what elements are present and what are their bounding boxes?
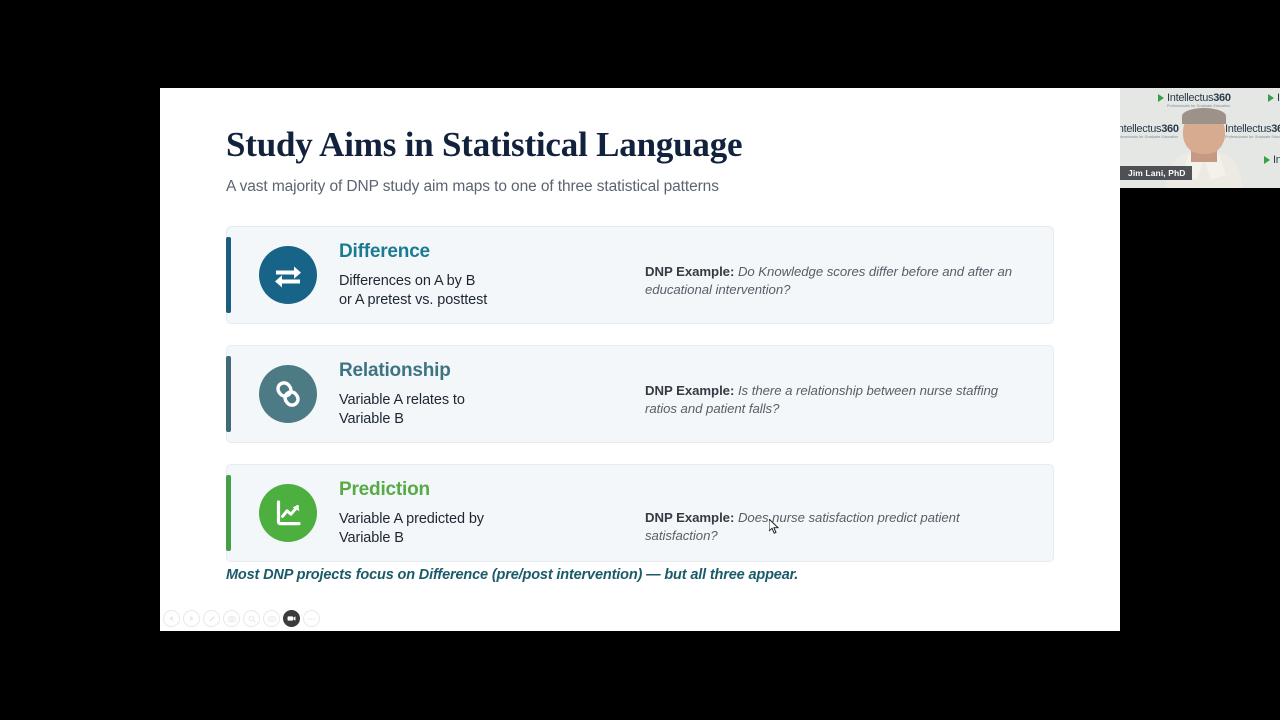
card-example: DNP Example: Is there a relationship bet… xyxy=(631,382,1053,418)
mouse-cursor xyxy=(769,519,780,535)
pattern-card-difference[interactable]: Difference Differences on A by B or A pr… xyxy=(226,226,1054,324)
presenter-display-button[interactable] xyxy=(263,610,280,627)
card-example: DNP Example: Does nurse satisfaction pre… xyxy=(631,509,1053,545)
card-text-block: Relationship Variable A relates to Varia… xyxy=(339,358,631,429)
card-text-block: Prediction Variable A predicted by Varia… xyxy=(339,477,631,548)
play-triangle-icon xyxy=(1158,94,1164,102)
card-example-label: DNP Example: xyxy=(645,264,734,279)
previous-slide-button[interactable] xyxy=(163,610,180,627)
two-way-arrows-icon xyxy=(259,246,317,304)
slide-header: Study Aims in Statistical Language A vas… xyxy=(226,126,1066,196)
brand-logo: Intellectus360 xyxy=(1268,92,1280,104)
speaker-hair xyxy=(1182,108,1226,124)
screen-canvas: Study Aims in Statistical Language A vas… xyxy=(0,0,1280,720)
card-heading: Prediction xyxy=(339,479,631,502)
card-accent-bar xyxy=(226,356,231,432)
card-accent-bar xyxy=(226,237,231,313)
card-description-line-2: Variable B xyxy=(339,410,631,429)
card-example: DNP Example: Do Knowledge scores differ … xyxy=(631,263,1053,299)
card-example-label: DNP Example: xyxy=(645,510,734,525)
record-video-button[interactable] xyxy=(283,610,300,627)
brand-logo: Intellectus360 xyxy=(1264,154,1280,166)
screenshot-button[interactable] xyxy=(223,610,240,627)
slide-toolbar[interactable] xyxy=(163,610,320,627)
slide-subtitle: A vast majority of DNP study aim maps to… xyxy=(226,178,1066,196)
webcam-overlay[interactable]: Intellectus360 Professionals for Graduat… xyxy=(1120,88,1280,188)
brand-logo: Intellectus360 Professionals for Graduat… xyxy=(1158,92,1231,104)
play-triangle-icon xyxy=(1268,94,1274,102)
speaker-name-label: Jim Lani, PhD xyxy=(1120,166,1192,180)
page-title: Study Aims in Statistical Language xyxy=(226,126,1066,165)
more-options-button[interactable] xyxy=(303,610,320,627)
card-description-line-1: Differences on A by B xyxy=(339,272,631,291)
pattern-card-list: Difference Differences on A by B or A pr… xyxy=(226,226,1054,583)
card-description-line-1: Variable A relates to xyxy=(339,391,631,410)
card-heading: Relationship xyxy=(339,360,631,383)
slide-footer-note: Most DNP projects focus on Difference (p… xyxy=(226,567,798,583)
annotate-pen-button[interactable] xyxy=(203,610,220,627)
card-accent-bar xyxy=(226,475,231,551)
zoom-button[interactable] xyxy=(243,610,260,627)
card-text-block: Difference Differences on A by B or A pr… xyxy=(339,239,631,310)
card-example-label: DNP Example: xyxy=(645,383,734,398)
presentation-slide: Study Aims in Statistical Language A vas… xyxy=(160,88,1120,631)
brand-wordmark: Intellectus360 xyxy=(1167,92,1231,104)
card-description-line-2: or A pretest vs. posttest xyxy=(339,291,631,310)
pattern-card-prediction[interactable]: Prediction Variable A predicted by Varia… xyxy=(226,464,1054,562)
play-triangle-icon xyxy=(1264,156,1270,164)
card-heading: Difference xyxy=(339,241,631,264)
chain-link-icon xyxy=(259,365,317,423)
brand-wordmark: Intellectus360 xyxy=(1273,154,1280,166)
card-description-line-1: Variable A predicted by xyxy=(339,510,631,529)
card-description-line-2: Variable B xyxy=(339,529,631,548)
pattern-card-relationship[interactable]: Relationship Variable A relates to Varia… xyxy=(226,345,1054,443)
next-slide-button[interactable] xyxy=(183,610,200,627)
trend-chart-icon xyxy=(259,484,317,542)
